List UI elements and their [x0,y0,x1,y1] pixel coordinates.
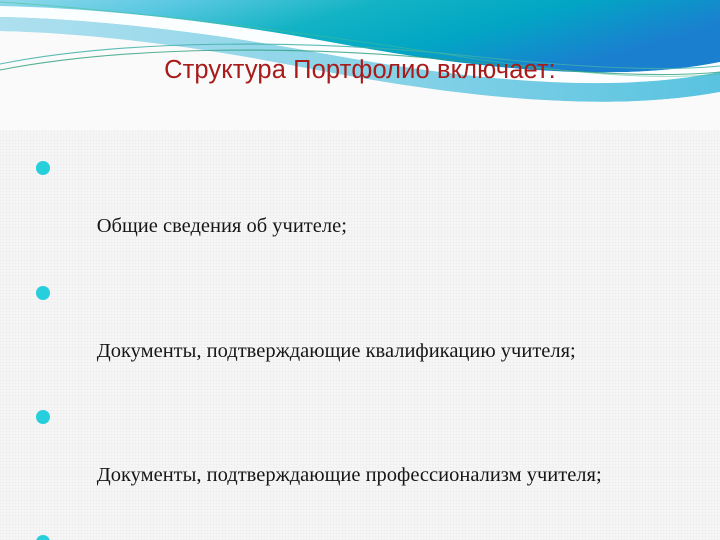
list-item: Документы, подтверждающие показатели рез… [36,526,636,540]
list-item-label: Общие сведения об учителе; [97,215,347,237]
bullet-dot-icon [36,161,50,175]
bullet-dot-icon [36,410,50,424]
list-item-label: Документы, подтверждающие квалификацию у… [97,340,576,362]
list-item: Документы, подтверждающие квалификацию у… [36,277,636,397]
list-item: Документы, подтверждающие профессионализ… [36,401,636,521]
page-title: Структура Портфолио включает: [164,56,556,85]
slide-canvas: Структура Портфолио включает: Общие свед… [0,0,720,540]
title-block: Структура Портфолио включает: [0,56,720,85]
bullet-dot-icon [36,535,50,540]
list-item-label: Документы, подтверждающие профессионализ… [97,464,602,486]
bullet-dot-icon [36,286,50,300]
bullet-list: Общие сведения об учителе; Документы, по… [36,152,636,540]
list-item: Общие сведения об учителе; [36,152,636,272]
